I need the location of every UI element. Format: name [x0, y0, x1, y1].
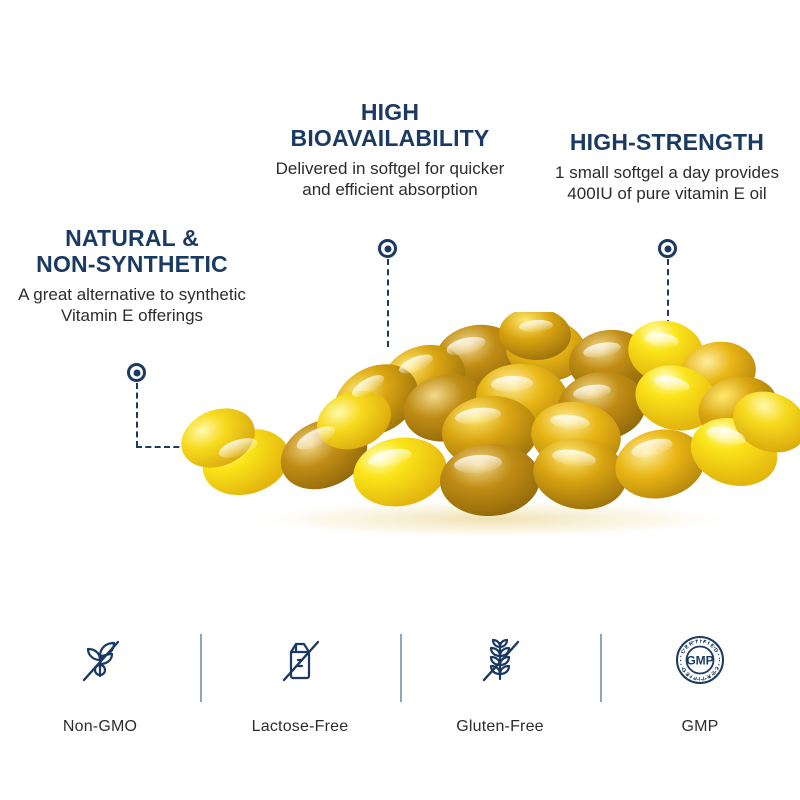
feature-divider	[400, 634, 402, 702]
feature-label-gluten-free: Gluten-Free	[456, 718, 544, 736]
callout-natural-title-line-1: NATURAL &	[6, 226, 258, 252]
connector-dot-natural-icon	[127, 363, 146, 382]
non-gmo-sprout-crossed-icon	[74, 628, 126, 692]
feature-divider	[600, 634, 602, 702]
feature-non-gmo: Non-GMO	[0, 618, 200, 736]
lactose-free-milk-carton-crossed-icon	[274, 628, 326, 692]
callout-high-bioavailability: HIGH BIOAVAILABILITY Delivered in softge…	[262, 100, 518, 201]
callout-bioavailability-title: HIGH BIOAVAILABILITY	[262, 100, 518, 152]
feature-badge-row: Non-GMO Lactose-Free	[0, 618, 800, 748]
gmp-certified-seal-icon: CERTIFIED CERTIFIED GMP	[674, 628, 726, 692]
feature-label-lactose-free: Lactose-Free	[252, 718, 349, 736]
callout-strength-title: HIGH-STRENGTH	[543, 130, 791, 156]
feature-lactose-free: Lactose-Free	[200, 618, 400, 736]
gluten-free-wheat-crossed-icon	[474, 628, 526, 692]
feature-gmp: CERTIFIED CERTIFIED GMP GMP	[600, 618, 800, 736]
callout-bioavailability-body: Delivered in softgel for quicker and eff…	[262, 158, 518, 201]
callout-natural-title: NATURAL & NON-SYNTHETIC	[6, 226, 258, 278]
feature-label-gmp: GMP	[681, 718, 718, 736]
callout-strength-body: 1 small softgel a day provides 400IU of …	[543, 162, 791, 205]
infographic-page: NATURAL & NON-SYNTHETIC A great alternat…	[0, 0, 800, 800]
callout-strength-title-line-1: HIGH-STRENGTH	[543, 130, 791, 156]
connector-line-natural-vertical	[136, 383, 138, 447]
callout-bioavailability-title-line-1: HIGH	[262, 100, 518, 126]
gmp-center-text: GMP	[686, 654, 713, 668]
feature-label-non-gmo: Non-GMO	[63, 718, 137, 736]
connector-dot-bioavailability-icon	[378, 239, 397, 258]
feature-gluten-free: Gluten-Free	[400, 618, 600, 736]
feature-divider	[200, 634, 202, 702]
callout-natural-title-line-2: NON-SYNTHETIC	[6, 252, 258, 278]
callout-high-strength: HIGH-STRENGTH 1 small softgel a day prov…	[543, 130, 791, 205]
connector-dot-strength-icon	[658, 239, 677, 258]
softgel-capsule-pile-image	[178, 312, 800, 537]
callout-bioavailability-title-line-2: BIOAVAILABILITY	[262, 126, 518, 152]
